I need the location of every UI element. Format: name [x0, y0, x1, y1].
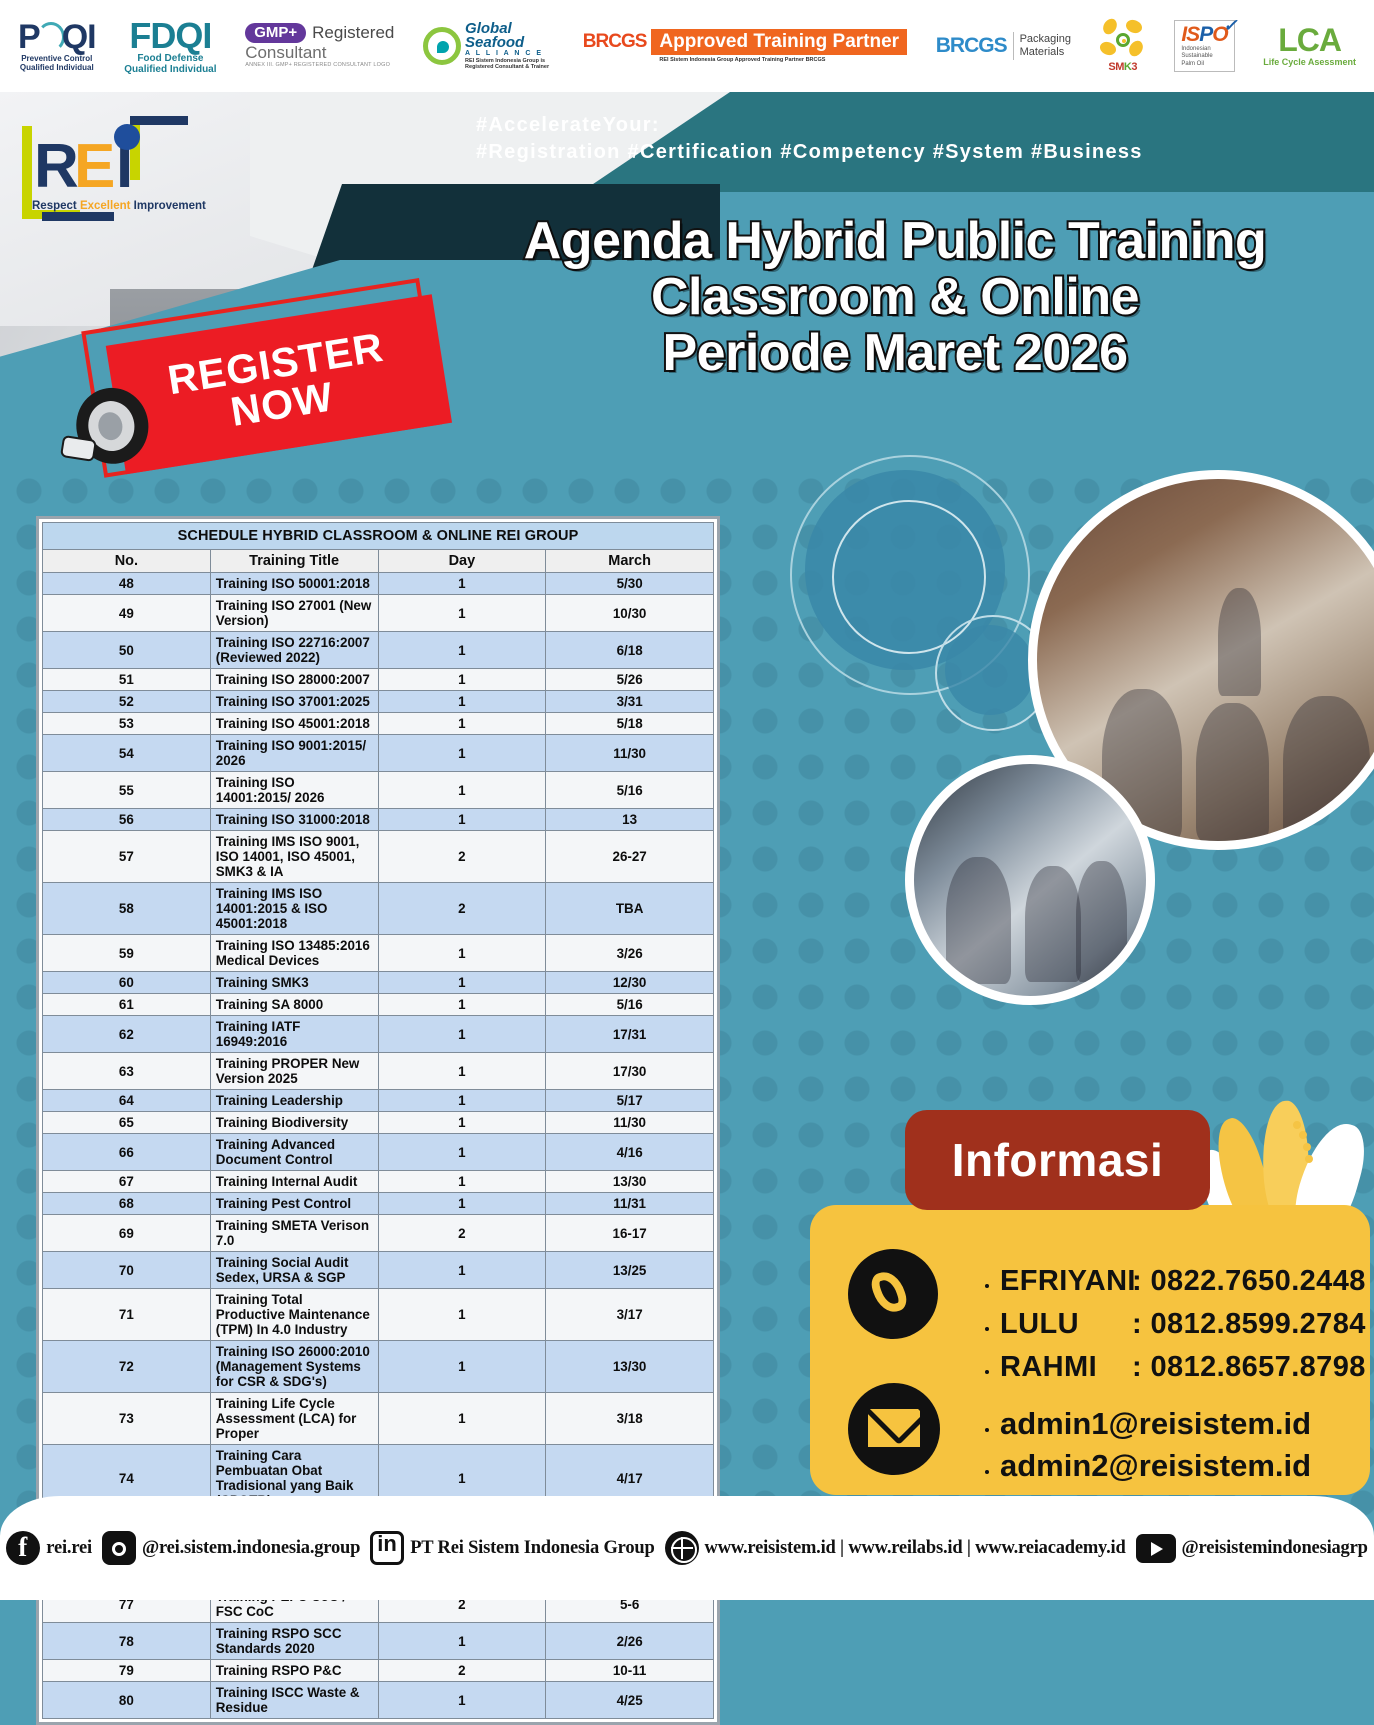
page-title: Agenda Hybrid Public Training Classroom … [430, 213, 1360, 381]
cell-no: 55 [43, 772, 211, 809]
phone-list: EFRIYANI: 0822.7650.2448LULU: 0812.8599.… [960, 1265, 1374, 1394]
hashtag-line-2: #Registration #Certification #Competency… [476, 139, 1143, 166]
title-line-1: Agenda Hybrid Public Training [430, 213, 1360, 269]
phone-icon [848, 1249, 938, 1339]
table-row: 59Training ISO 13485:2016 Medical Device… [43, 935, 714, 972]
table-row: 61Training SA 800015/16 [43, 994, 714, 1016]
cell-no: 78 [43, 1623, 211, 1660]
globe-icon [114, 124, 140, 150]
cell-day: 1 [378, 573, 546, 595]
youtube-icon[interactable] [1136, 1534, 1176, 1563]
rei-letter-r: R [34, 136, 77, 198]
cell-title: Training IATF 16949:2016 [210, 1016, 378, 1053]
cell-title: Training ISO 14001:2015/ 2026 [210, 772, 378, 809]
cell-march: 4/25 [546, 1682, 714, 1719]
cell-day: 1 [378, 1016, 546, 1053]
cell-day: 1 [378, 972, 546, 994]
contact-number: : 0812.8657.8798 [1132, 1351, 1366, 1383]
cell-day: 1 [378, 595, 546, 632]
table-row: 78Training RSPO SCC Standards 202012/26 [43, 1623, 714, 1660]
table-row: 62Training IATF 16949:2016117/31 [43, 1016, 714, 1053]
cell-march: 13 [546, 809, 714, 831]
logo-brcgs-packaging: BRCGS PackagingMaterials [936, 32, 1071, 60]
footer-facebook[interactable]: rei.rei [6, 1531, 92, 1565]
cell-title: Training Leadership [210, 1090, 378, 1112]
column-header-no: No. [43, 550, 211, 573]
cell-no: 69 [43, 1215, 211, 1252]
cell-title: Training ISCC Waste & Residue [210, 1682, 378, 1719]
table-row: 50Training ISO 22716:2007 (Reviewed 2022… [43, 632, 714, 669]
cell-march: 17/30 [546, 1053, 714, 1090]
phone-item[interactable]: RAHMI: 0812.8657.8798 [1000, 1351, 1374, 1384]
cell-title: Training Pest Control [210, 1193, 378, 1215]
phone-item[interactable]: LULU: 0812.8599.2784 [1000, 1308, 1374, 1341]
cell-march: 5/16 [546, 994, 714, 1016]
cell-march: 5/26 [546, 669, 714, 691]
informasi-badge: Informasi [905, 1110, 1210, 1210]
cell-day: 1 [378, 994, 546, 1016]
cell-title: Training RSPO SCC Standards 2020 [210, 1623, 378, 1660]
phone-item[interactable]: EFRIYANI: 0822.7650.2448 [1000, 1265, 1374, 1298]
cell-title: Training ISO 28000:2007 [210, 669, 378, 691]
table-caption-row: SCHEDULE HYBRID CLASSROOM & ONLINE REI G… [43, 523, 714, 550]
cell-day: 1 [378, 1134, 546, 1171]
email-item[interactable]: admin1@reisistem.id [1000, 1406, 1374, 1442]
cell-title: Training ISO 26000:2010 (Management Syst… [210, 1341, 378, 1393]
cell-day: 1 [378, 1171, 546, 1193]
logo-gmp-plus: GMP+ Registered Consultant ANNEX III. GM… [245, 23, 394, 69]
cell-march: 12/30 [546, 972, 714, 994]
cell-march: 11/30 [546, 735, 714, 772]
cell-day: 1 [378, 669, 546, 691]
cell-title: Training RSPO P&C [210, 1660, 378, 1682]
cell-no: 61 [43, 994, 211, 1016]
table-row: 73Training Life Cycle Assessment (LCA) f… [43, 1393, 714, 1445]
cell-no: 73 [43, 1393, 211, 1445]
cell-no: 72 [43, 1341, 211, 1393]
smk3-flower-icon [1100, 18, 1146, 62]
gsa-note: REI Sistem Indonesia Group isRegistered … [465, 58, 549, 71]
table-row: 52Training ISO 37001:202513/31 [43, 691, 714, 713]
title-line-3: Periode Maret 2026 [430, 325, 1360, 381]
hashtag-block: #AccelerateYour: #Registration #Certific… [476, 112, 1143, 166]
table-row: 49Training ISO 27001 (New Version)110/30 [43, 595, 714, 632]
cell-day: 1 [378, 1193, 546, 1215]
cell-day: 2 [378, 883, 546, 935]
cell-march: 3/31 [546, 691, 714, 713]
cell-day: 1 [378, 1289, 546, 1341]
table-row: 64Training Leadership15/17 [43, 1090, 714, 1112]
facebook-handle: rei.rei [46, 1538, 92, 1559]
logo-lca: LCA Life Cycle Asessment [1263, 24, 1356, 67]
email-list: admin1@reisistem.idadmin2@reisistem.id [960, 1406, 1374, 1490]
email-item[interactable]: admin2@reisistem.id [1000, 1448, 1374, 1484]
cell-march: TBA [546, 883, 714, 935]
table-row: 63Training PROPER New Version 2025117/30 [43, 1053, 714, 1090]
cell-day: 1 [378, 713, 546, 735]
cell-no: 57 [43, 831, 211, 883]
table-row: 79Training RSPO P&C210-11 [43, 1660, 714, 1682]
table-row: 66Training Advanced Document Control14/1… [43, 1134, 714, 1171]
logo-fdqi: FDQI Food DefenseQualified Individual [124, 17, 216, 76]
table-row: 51Training ISO 28000:200715/26 [43, 669, 714, 691]
cell-march: 3/26 [546, 935, 714, 972]
email-address: admin2@reisistem.id [1000, 1448, 1311, 1483]
footer-websites[interactable]: www.reisistem.id | www.reilabs.id | www.… [665, 1531, 1126, 1565]
footer-youtube[interactable]: @reisistemindonesiagrp [1136, 1534, 1368, 1563]
pcqi-wordmark: PQI [18, 20, 96, 56]
instagram-handle: @rei.sistem.indonesia.group [142, 1538, 360, 1559]
table-row: 48Training ISO 50001:201815/30 [43, 573, 714, 595]
brcgs-wordmark: BRCGS [578, 29, 652, 55]
cell-no: 67 [43, 1171, 211, 1193]
cell-march: 3/17 [546, 1289, 714, 1341]
cell-march: 6/18 [546, 632, 714, 669]
cell-no: 52 [43, 691, 211, 713]
smk3-label: SMK3 [1108, 62, 1137, 74]
footer-instagram[interactable]: @rei.sistem.indonesia.group [102, 1531, 360, 1565]
cell-march: 5/17 [546, 1090, 714, 1112]
cell-march: 10/30 [546, 595, 714, 632]
contact-name: EFRIYANI [1000, 1265, 1132, 1298]
cell-no: 51 [43, 669, 211, 691]
cell-march: 13/30 [546, 1341, 714, 1393]
cell-title: Training SMETA Verison 7.0 [210, 1215, 378, 1252]
cell-no: 50 [43, 632, 211, 669]
brcgs-atp-label: Approved Training Partner [651, 29, 907, 55]
email-icon [848, 1383, 940, 1475]
contact-number: : 0822.7650.2448 [1132, 1265, 1366, 1297]
certification-logo-bar: PQI Preventive ControlQualified Individu… [0, 0, 1374, 92]
cell-no: 66 [43, 1134, 211, 1171]
cell-day: 1 [378, 809, 546, 831]
cell-no: 65 [43, 1112, 211, 1134]
lca-wordmark: LCA [1278, 24, 1341, 58]
cell-title: Training ISO 31000:2018 [210, 809, 378, 831]
pcqi-subtitle: Preventive ControlQualified Individual [20, 55, 94, 72]
footer-linkedin[interactable]: PT Rei Sistem Indonesia Group [370, 1531, 654, 1565]
table-row: 70Training Social Audit Sedex, URSA & SG… [43, 1252, 714, 1289]
cell-title: Training PROPER New Version 2025 [210, 1053, 378, 1090]
gmp-registered-label: Registered [312, 24, 394, 42]
fdqi-subtitle: Food DefenseQualified Individual [124, 54, 216, 75]
cell-march: 26-27 [546, 831, 714, 883]
cell-no: 64 [43, 1090, 211, 1112]
table-header-row: No. Training Title Day March [43, 550, 714, 573]
cell-no: 79 [43, 1660, 211, 1682]
table-row: 58Training IMS ISO 14001:2015 & ISO 4500… [43, 883, 714, 935]
website-list: www.reisistem.id | www.reilabs.id | www.… [705, 1538, 1126, 1559]
cell-march: 2/26 [546, 1623, 714, 1660]
linkedin-handle: PT Rei Sistem Indonesia Group [410, 1538, 654, 1559]
cell-march: 4/16 [546, 1134, 714, 1171]
brcgs-packaging-label: PackagingMaterials [1020, 33, 1071, 58]
table-caption: SCHEDULE HYBRID CLASSROOM & ONLINE REI G… [43, 523, 714, 550]
table-row: 60Training SMK3112/30 [43, 972, 714, 994]
hashtag-line-1: #AccelerateYour: [476, 112, 1143, 139]
seafood-fish-icon [423, 27, 461, 65]
cell-march: 11/31 [546, 1193, 714, 1215]
check-icon: ✓ [1223, 17, 1236, 35]
facebook-icon[interactable] [6, 1531, 40, 1565]
cell-title: Training ISO 27001 (New Version) [210, 595, 378, 632]
logo-global-seafood-alliance: Global Seafood A L L I A N C E REI Siste… [423, 22, 549, 70]
cell-march: 13/25 [546, 1252, 714, 1289]
gsa-line3: A L L I A N C E [465, 50, 549, 57]
cell-day: 1 [378, 772, 546, 809]
gmp-pill: GMP+ [245, 23, 306, 43]
table-row: 72Training ISO 26000:2010 (Management Sy… [43, 1341, 714, 1393]
cell-title: Training ISO 50001:2018 [210, 573, 378, 595]
megaphone-icon [53, 380, 168, 473]
cell-title: Training ISO 22716:2007 (Reviewed 2022) [210, 632, 378, 669]
logo-ispo: ISPO✓ IndonesianSustainablePalm Oil [1174, 20, 1234, 73]
cell-march: 5/30 [546, 573, 714, 595]
cell-title: Training IMS ISO 9001, ISO 14001, ISO 45… [210, 831, 378, 883]
cell-title: Training Social Audit Sedex, URSA & SGP [210, 1252, 378, 1289]
cell-day: 2 [378, 1660, 546, 1682]
table-row: 80Training ISCC Waste & Residue14/25 [43, 1682, 714, 1719]
cell-no: 53 [43, 713, 211, 735]
lca-subtitle: Life Cycle Asessment [1263, 58, 1356, 67]
table-row: 69Training SMETA Verison 7.0216-17 [43, 1215, 714, 1252]
decor-circle-small [945, 625, 1035, 715]
column-header-march: March [546, 550, 714, 573]
cell-day: 1 [378, 632, 546, 669]
email-address: admin1@reisistem.id [1000, 1406, 1311, 1441]
logo-brcgs-approved-training-partner: BRCGS Approved Training Partner REI Sist… [578, 29, 907, 64]
cell-day: 1 [378, 1682, 546, 1719]
divider [1013, 32, 1014, 60]
cell-march: 3/18 [546, 1393, 714, 1445]
cell-no: 49 [43, 595, 211, 632]
cell-title: Training ISO 45001:2018 [210, 713, 378, 735]
informasi-label: Informasi [952, 1133, 1164, 1187]
cell-march: 11/30 [546, 1112, 714, 1134]
cell-no: 71 [43, 1289, 211, 1341]
pcqi-arc-icon [37, 22, 65, 52]
cell-day: 1 [378, 1252, 546, 1289]
cell-day: 1 [378, 1623, 546, 1660]
cell-day: 1 [378, 735, 546, 772]
cell-title: Training ISO 37001:2025 [210, 691, 378, 713]
logo-smk3: SMK3 [1100, 18, 1146, 74]
cell-title: Training Life Cycle Assessment (LCA) for… [210, 1393, 378, 1445]
cell-title: Training Advanced Document Control [210, 1134, 378, 1171]
cell-march: 5/16 [546, 772, 714, 809]
cell-day: 1 [378, 935, 546, 972]
cell-day: 1 [378, 1112, 546, 1134]
cell-day: 1 [378, 1341, 546, 1393]
logo-pcqi: PQI Preventive ControlQualified Individu… [18, 20, 96, 72]
cell-title: Training Total Productive Maintenance (T… [210, 1289, 378, 1341]
youtube-handle: @reisistemindonesiagrp [1182, 1538, 1368, 1559]
cell-title: Training ISO 9001:2015/ 2026 [210, 735, 378, 772]
social-footer: rei.rei @rei.sistem.indonesia.group PT R… [0, 1496, 1374, 1600]
cell-march: 10-11 [546, 1660, 714, 1682]
cell-day: 1 [378, 1393, 546, 1445]
table-row: 54Training ISO 9001:2015/ 2026111/30 [43, 735, 714, 772]
table-row: 65Training Biodiversity111/30 [43, 1112, 714, 1134]
rei-tagline: Respect Excellent Improvement [32, 200, 206, 212]
instagram-icon[interactable] [102, 1531, 136, 1565]
cell-day: 1 [378, 1090, 546, 1112]
contact-card: EFRIYANI: 0822.7650.2448LULU: 0812.8599.… [810, 1205, 1370, 1495]
rei-logo: R E I Respect Excellent Improvement [18, 112, 208, 242]
cell-no: 63 [43, 1053, 211, 1090]
table-row: 71Training Total Productive Maintenance … [43, 1289, 714, 1341]
cell-no: 56 [43, 809, 211, 831]
cell-march: 17/31 [546, 1016, 714, 1053]
cell-march: 5/18 [546, 713, 714, 735]
table-row: 56Training ISO 31000:2018113 [43, 809, 714, 831]
cell-title: Training ISO 13485:2016 Medical Devices [210, 935, 378, 972]
cell-day: 2 [378, 1215, 546, 1252]
cell-title: Training Biodiversity [210, 1112, 378, 1134]
cell-no: 60 [43, 972, 211, 994]
cell-title: Training IMS ISO 14001:2015 & ISO 45001:… [210, 883, 378, 935]
linkedin-icon[interactable] [370, 1531, 404, 1565]
cell-no: 80 [43, 1682, 211, 1719]
ispo-note: IndonesianSustainablePalm Oil [1181, 46, 1212, 69]
cell-march: 16-17 [546, 1215, 714, 1252]
fdqi-wordmark: FDQI [129, 17, 211, 55]
title-line-2: Classroom & Online [430, 269, 1360, 325]
gmp-annex-note: ANNEX III. GMP+ REGISTERED CONSULTANT LO… [245, 63, 390, 69]
brcgs-atp-note: REI Sistem Indonesia Group Approved Trai… [659, 58, 825, 64]
contact-name: RAHMI [1000, 1351, 1132, 1384]
photo-online-training [905, 755, 1155, 1005]
cell-no: 68 [43, 1193, 211, 1215]
contact-name: LULU [1000, 1308, 1132, 1341]
table-row: 57Training IMS ISO 9001, ISO 14001, ISO … [43, 831, 714, 883]
gmp-consultant-label: Consultant [245, 44, 326, 62]
cell-title: Training SMK3 [210, 972, 378, 994]
cell-day: 2 [378, 831, 546, 883]
cell-day: 1 [378, 1053, 546, 1090]
cell-title: Training Internal Audit [210, 1171, 378, 1193]
table-row: 55Training ISO 14001:2015/ 202615/16 [43, 772, 714, 809]
table-row: 67Training Internal Audit113/30 [43, 1171, 714, 1193]
cell-no: 54 [43, 735, 211, 772]
column-header-title: Training Title [210, 550, 378, 573]
column-header-day: Day [378, 550, 546, 573]
cell-no: 62 [43, 1016, 211, 1053]
cell-day: 1 [378, 691, 546, 713]
globe-icon[interactable] [665, 1531, 699, 1565]
rei-letter-e: E [74, 136, 113, 198]
contact-number: : 0812.8599.2784 [1132, 1308, 1366, 1340]
brcgs-packaging-wordmark: BRCGS [936, 35, 1007, 57]
table-row: 53Training ISO 45001:201815/18 [43, 713, 714, 735]
cell-no: 48 [43, 573, 211, 595]
gsa-line2: Seafood [465, 36, 549, 50]
cell-march: 13/30 [546, 1171, 714, 1193]
cell-no: 59 [43, 935, 211, 972]
cell-title: Training SA 8000 [210, 994, 378, 1016]
cell-no: 70 [43, 1252, 211, 1289]
cell-no: 58 [43, 883, 211, 935]
table-row: 68Training Pest Control111/31 [43, 1193, 714, 1215]
ispo-wordmark: ISPO✓ [1181, 24, 1227, 46]
